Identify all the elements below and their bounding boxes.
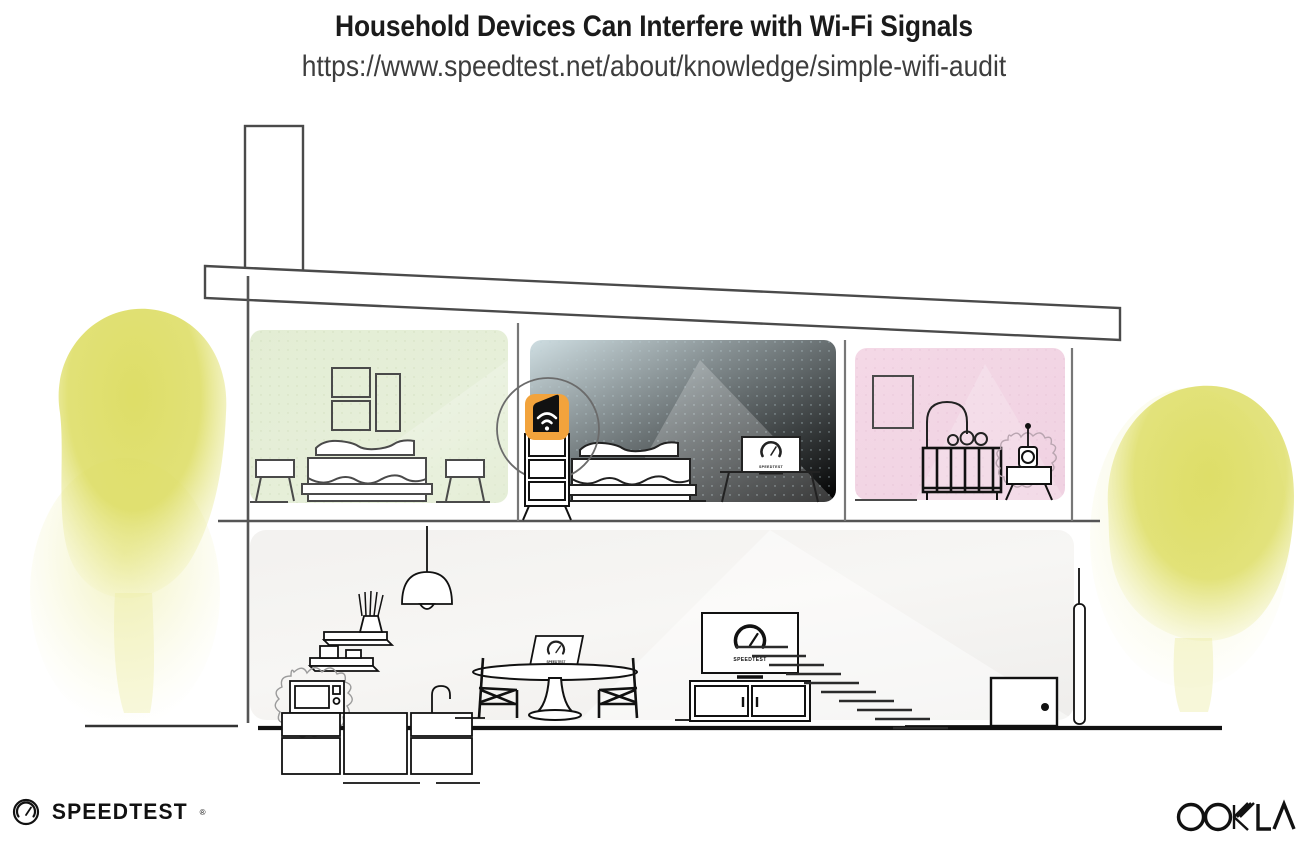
shelf-lower <box>310 658 378 671</box>
ookla-wordmark-icon <box>1174 800 1294 834</box>
page-title: Household Devices Can Interfere with Wi-… <box>78 10 1229 44</box>
room-nursery-pink <box>855 348 1073 524</box>
speedtest-trademark: ® <box>200 808 206 817</box>
header: Household Devices Can Interfere with Wi-… <box>0 0 1308 84</box>
dining-table <box>473 664 637 720</box>
infographic-canvas: Household Devices Can Interfere with Wi-… <box>0 0 1308 861</box>
sink-faucet <box>432 686 450 713</box>
door-knob <box>1041 703 1049 711</box>
bed <box>302 440 432 501</box>
ookla-logo: OOKLA <box>1174 800 1294 834</box>
roof <box>205 266 1120 340</box>
speedtest-gauge-icon <box>12 798 40 826</box>
wifi-router-group[interactable] <box>495 376 607 521</box>
bowls <box>320 646 361 658</box>
microwave <box>290 681 344 713</box>
front-door <box>991 678 1057 726</box>
speedtest-wordmark: SPEEDTEST <box>52 799 188 825</box>
dining-area: SPEEDTEST <box>455 616 665 728</box>
shelf-unit <box>523 434 571 520</box>
wifi-icon-dot <box>545 426 549 430</box>
shelf-upper <box>324 632 392 645</box>
house-cutaway-illustration: SPEEDTEST <box>0 108 1308 748</box>
pendant-lamp <box>395 526 459 636</box>
kitchen-counters <box>282 713 472 774</box>
speedtest-logo: SPEEDTEST ® <box>12 798 206 826</box>
chimney <box>245 126 303 276</box>
floor-lamp <box>1070 568 1096 730</box>
footer: SPEEDTEST ® OOKLA <box>0 780 1308 861</box>
source-url: https://www.speedtest.net/about/knowledg… <box>78 50 1229 84</box>
utensil-pot <box>359 591 383 632</box>
room-bedroom-green <box>250 330 512 520</box>
staircase <box>726 640 976 732</box>
wifi-router-badge <box>525 394 569 440</box>
monitor-speedtest-label: SPEEDTEST <box>759 465 784 469</box>
